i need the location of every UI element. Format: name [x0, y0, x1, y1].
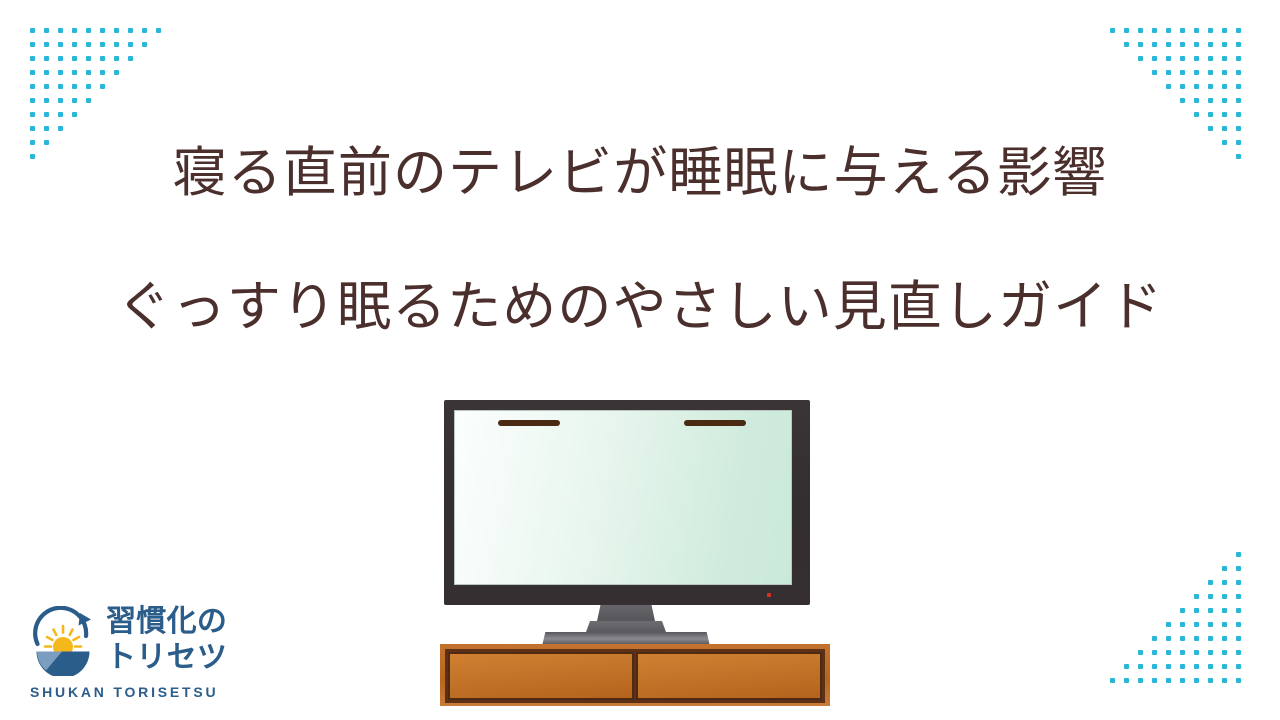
decorative-dot	[1152, 636, 1157, 641]
decorative-dot	[30, 42, 35, 47]
decorative-dot-spacer	[1180, 566, 1185, 571]
decorative-dot-spacer	[1110, 70, 1115, 75]
decorative-dot-row	[1110, 112, 1250, 126]
decorative-dot	[86, 56, 91, 61]
decorative-dot	[44, 126, 49, 131]
decorative-dot	[1152, 678, 1157, 683]
decorative-dot-spacer	[1166, 594, 1171, 599]
decorative-dot-spacer	[1124, 594, 1129, 599]
decorative-dot-spacer	[1124, 126, 1129, 131]
decorative-dot	[44, 70, 49, 75]
decorative-dot-spacer	[114, 126, 119, 131]
decorative-dot-spacer	[1124, 650, 1129, 655]
decorative-dot	[1194, 112, 1199, 117]
decorative-dot-spacer	[1222, 552, 1227, 557]
decorative-dot-spacer	[1124, 84, 1129, 89]
decorative-dot-spacer	[1110, 650, 1115, 655]
decorative-dot-spacer	[1166, 126, 1171, 131]
decorative-dot-spacer	[142, 126, 147, 131]
decorative-dot	[114, 42, 119, 47]
decorative-dot	[1180, 678, 1185, 683]
decorative-dot-spacer	[1194, 566, 1199, 571]
decorative-dot	[1222, 112, 1227, 117]
decorative-dot	[114, 70, 119, 75]
decorative-dot	[72, 98, 77, 103]
page-subtitle-line-2: ぐっすり眠るためのやさしい見直しガイド	[0, 275, 1280, 339]
decorative-dot	[58, 28, 63, 33]
decorative-dot-spacer	[1138, 608, 1143, 613]
decorative-dot	[1194, 70, 1199, 75]
decorative-dot-spacer	[1124, 70, 1129, 75]
decorative-dot-spacer	[1110, 608, 1115, 613]
decorative-dot	[114, 56, 119, 61]
decorative-dot	[30, 70, 35, 75]
decorative-dot	[86, 28, 91, 33]
decorative-dot	[1194, 678, 1199, 683]
decorative-dot	[100, 42, 105, 47]
decorative-dot-spacer	[128, 84, 133, 89]
decorative-dot-spacer	[100, 98, 105, 103]
decorative-dot-row	[30, 28, 170, 42]
decorative-dot	[1222, 98, 1227, 103]
decorative-dot	[1222, 28, 1227, 33]
decorative-dot	[86, 84, 91, 89]
decorative-dot-spacer	[1110, 580, 1115, 585]
decorative-dot	[1236, 28, 1241, 33]
decorative-dot-row	[1110, 84, 1250, 98]
decorative-dot-spacer	[1124, 56, 1129, 61]
decorative-dot-spacer	[1110, 42, 1115, 47]
decorative-dot-spacer	[1152, 84, 1157, 89]
decorative-dot-spacer	[100, 126, 105, 131]
decorative-dot-spacer	[156, 112, 161, 117]
decorative-dot	[1236, 552, 1241, 557]
decorative-dot	[1194, 664, 1199, 669]
cabinet-drawer-right	[636, 652, 822, 700]
decorative-dot	[1222, 580, 1227, 585]
decorative-dot	[1208, 678, 1213, 683]
decorative-dot-row	[1110, 636, 1250, 650]
decorative-dot-spacer	[1110, 84, 1115, 89]
decorative-dot-spacer	[1124, 98, 1129, 103]
decorative-dot-spacer	[1180, 112, 1185, 117]
decorative-dot	[1208, 42, 1213, 47]
decorative-dot	[1138, 42, 1143, 47]
decorative-dot	[44, 112, 49, 117]
decorative-dot	[100, 56, 105, 61]
decorative-dot-spacer	[1138, 552, 1143, 557]
decorative-dot-spacer	[142, 98, 147, 103]
decorative-dot	[1194, 636, 1199, 641]
decorative-dot-row	[30, 84, 170, 98]
decorative-dot-spacer	[1152, 608, 1157, 613]
decorative-dot	[72, 84, 77, 89]
decorative-dot	[128, 28, 133, 33]
decorative-dot-spacer	[1138, 566, 1143, 571]
decorative-dot-spacer	[72, 126, 77, 131]
cabinet-drawer-left	[448, 652, 634, 700]
decorative-dot-spacer	[1166, 566, 1171, 571]
decorative-dot	[1236, 126, 1241, 131]
decorative-dot	[1138, 650, 1143, 655]
decorative-dot	[1208, 594, 1213, 599]
decorative-dot-spacer	[1124, 622, 1129, 627]
decorative-dot-spacer	[1152, 112, 1157, 117]
decorative-dot-row	[1110, 552, 1250, 566]
decorative-dot	[1180, 84, 1185, 89]
decorative-dot-spacer	[1194, 580, 1199, 585]
decorative-dot-spacer	[128, 112, 133, 117]
decorative-dot-spacer	[1166, 552, 1171, 557]
decorative-dot	[1124, 664, 1129, 669]
decorative-dot	[1180, 70, 1185, 75]
decorative-dot-row	[1110, 580, 1250, 594]
decorative-dot-row	[30, 98, 170, 112]
decorative-dot-spacer	[1138, 636, 1143, 641]
decorative-dot	[1208, 608, 1213, 613]
decorative-dot	[1194, 42, 1199, 47]
decorative-dot	[1166, 84, 1171, 89]
decorative-dot-spacer	[1152, 98, 1157, 103]
poster-canvas: 寝る直前のテレビが睡眠に与える影響 ぐっすり眠るためのやさしい見直しガイド	[0, 0, 1280, 720]
television-illustration	[440, 400, 830, 700]
decorative-dot	[1236, 84, 1241, 89]
decorative-dot	[128, 42, 133, 47]
decorative-dot-spacer	[114, 84, 119, 89]
decorative-dot	[30, 28, 35, 33]
decorative-dot-spacer	[1138, 126, 1143, 131]
decorative-dot	[100, 28, 105, 33]
decorative-dot	[1180, 608, 1185, 613]
decorative-dot	[1194, 594, 1199, 599]
decorative-dot	[1236, 580, 1241, 585]
decorative-dot	[58, 56, 63, 61]
decorative-dot-row	[1110, 622, 1250, 636]
decorative-dot	[58, 126, 63, 131]
decorative-dot-row	[1110, 42, 1250, 56]
decorative-dot	[86, 70, 91, 75]
decorative-dot	[1236, 56, 1241, 61]
decorative-dot	[58, 112, 63, 117]
decorative-dot	[1110, 678, 1115, 683]
decorative-dot	[1222, 594, 1227, 599]
decorative-dot	[1208, 126, 1213, 131]
decorative-dot	[44, 28, 49, 33]
decorative-dot	[1236, 636, 1241, 641]
decorative-dot	[1222, 608, 1227, 613]
decorative-dot	[1208, 56, 1213, 61]
decorative-dot	[1152, 28, 1157, 33]
decorative-dot	[1208, 28, 1213, 33]
decorative-dot	[1166, 622, 1171, 627]
decorative-dot-spacer	[1124, 566, 1129, 571]
decorative-dot-spacer	[1166, 608, 1171, 613]
decorative-dot	[30, 56, 35, 61]
decorative-dot-spacer	[86, 112, 91, 117]
decorative-dot	[1124, 28, 1129, 33]
decorative-dot-row	[1110, 70, 1250, 84]
decorative-dot	[1194, 84, 1199, 89]
decorative-dot-row	[1110, 56, 1250, 70]
decorative-dot	[100, 70, 105, 75]
brand-logo: 習慣化の トリセツ SHUKAN TORISETSU	[28, 604, 248, 704]
decorative-dot-spacer	[156, 84, 161, 89]
decorative-dot-row	[1110, 98, 1250, 112]
decorative-dot-spacer	[1152, 580, 1157, 585]
decorative-dot-row	[30, 56, 170, 70]
decorative-dot	[1138, 678, 1143, 683]
decorative-dot-spacer	[1166, 98, 1171, 103]
decorative-dot-spacer	[1124, 552, 1129, 557]
decorative-dots-bottom-right	[1110, 552, 1250, 692]
decorative-dot	[156, 28, 161, 33]
decorative-dot	[128, 56, 133, 61]
decorative-dot	[1236, 566, 1241, 571]
decorative-dot	[1236, 650, 1241, 655]
logo-wordmark-line2: トリセツ	[106, 641, 227, 674]
decorative-dot-spacer	[1152, 552, 1157, 557]
decorative-dot-spacer	[1152, 622, 1157, 627]
decorative-dot	[1236, 622, 1241, 627]
decorative-dot-spacer	[142, 70, 147, 75]
decorative-dot	[1152, 664, 1157, 669]
logo-tagline: SHUKAN TORISETSU	[30, 684, 218, 700]
decorative-dot	[1208, 664, 1213, 669]
decorative-dot	[30, 126, 35, 131]
decorative-dot	[1110, 28, 1115, 33]
decorative-dot	[1222, 664, 1227, 669]
decorative-dot	[142, 42, 147, 47]
decorative-dot	[1208, 70, 1213, 75]
decorative-dot-spacer	[1110, 112, 1115, 117]
decorative-dot	[1208, 580, 1213, 585]
decorative-dot	[1152, 650, 1157, 655]
decorative-dot	[1166, 28, 1171, 33]
decorative-dot-spacer	[1110, 98, 1115, 103]
decorative-dot	[30, 84, 35, 89]
cabinet-drawer-handle-left	[498, 420, 560, 426]
decorative-dot-spacer	[1152, 566, 1157, 571]
decorative-dot-row	[30, 42, 170, 56]
decorative-dot	[72, 56, 77, 61]
decorative-dot	[44, 98, 49, 103]
decorative-dot-spacer	[1110, 126, 1115, 131]
decorative-dot	[1194, 622, 1199, 627]
decorative-dot	[1208, 112, 1213, 117]
decorative-dot-row	[30, 126, 170, 140]
decorative-dot	[1152, 42, 1157, 47]
decorative-dot-row	[1110, 608, 1250, 622]
decorative-dot	[44, 84, 49, 89]
decorative-dot	[1180, 42, 1185, 47]
decorative-dot	[72, 28, 77, 33]
decorative-dot-spacer	[1138, 98, 1143, 103]
decorative-dot-spacer	[1124, 580, 1129, 585]
decorative-dot	[1236, 98, 1241, 103]
decorative-dot-spacer	[1124, 608, 1129, 613]
decorative-dot	[1236, 112, 1241, 117]
cabinet-drawer-handle-right	[684, 420, 746, 426]
decorative-dot	[1222, 126, 1227, 131]
decorative-dot	[1166, 664, 1171, 669]
decorative-dot	[1180, 636, 1185, 641]
decorative-dot	[1236, 664, 1241, 669]
decorative-dot-spacer	[1180, 594, 1185, 599]
decorative-dot	[58, 42, 63, 47]
decorative-dot-spacer	[156, 126, 161, 131]
decorative-dot	[1208, 98, 1213, 103]
decorative-dot	[1180, 28, 1185, 33]
decorative-dot	[1166, 678, 1171, 683]
decorative-dot-row	[30, 70, 170, 84]
decorative-dot	[1180, 56, 1185, 61]
decorative-dot	[1236, 594, 1241, 599]
tv-power-led-icon	[767, 593, 771, 597]
decorative-dot	[1222, 84, 1227, 89]
decorative-dot-spacer	[128, 98, 133, 103]
decorative-dot-spacer	[1124, 112, 1129, 117]
decorative-dot-row	[1110, 650, 1250, 664]
decorative-dot	[1222, 42, 1227, 47]
decorative-dot	[1208, 622, 1213, 627]
decorative-dot	[1152, 70, 1157, 75]
decorative-dot-spacer	[1124, 636, 1129, 641]
decorative-dot-spacer	[1180, 580, 1185, 585]
decorative-dot	[114, 28, 119, 33]
decorative-dot-spacer	[156, 70, 161, 75]
sunrise-refresh-circle-icon	[28, 606, 98, 676]
decorative-dot-spacer	[1110, 664, 1115, 669]
decorative-dot	[1166, 636, 1171, 641]
decorative-dot	[1236, 678, 1241, 683]
decorative-dot	[1236, 608, 1241, 613]
decorative-dot	[1208, 84, 1213, 89]
decorative-dot	[1138, 56, 1143, 61]
decorative-dot-spacer	[1138, 70, 1143, 75]
decorative-dot	[30, 112, 35, 117]
decorative-dot	[1222, 566, 1227, 571]
decorative-dot-spacer	[100, 112, 105, 117]
decorative-dot	[1152, 56, 1157, 61]
decorative-dot-spacer	[142, 56, 147, 61]
decorative-dot	[1180, 622, 1185, 627]
decorative-dot-spacer	[1180, 552, 1185, 557]
decorative-dot-spacer	[1208, 552, 1213, 557]
decorative-dot-spacer	[1180, 126, 1185, 131]
decorative-dot	[142, 28, 147, 33]
decorative-dot	[1166, 650, 1171, 655]
decorative-dot-spacer	[1138, 594, 1143, 599]
decorative-dot	[1166, 70, 1171, 75]
logo-wordmark: 習慣化の トリセツ	[106, 604, 227, 676]
decorative-dot-row	[1110, 678, 1250, 692]
decorative-dot-spacer	[142, 84, 147, 89]
decorative-dot-row	[1110, 594, 1250, 608]
decorative-dot	[1194, 650, 1199, 655]
decorative-dot-spacer	[156, 42, 161, 47]
decorative-dot-spacer	[1138, 580, 1143, 585]
decorative-dot-spacer	[128, 126, 133, 131]
decorative-dot-spacer	[1138, 84, 1143, 89]
decorative-dot-spacer	[1138, 622, 1143, 627]
decorative-dot-spacer	[114, 112, 119, 117]
decorative-dot-spacer	[1138, 112, 1143, 117]
decorative-dot-spacer	[1194, 126, 1199, 131]
decorative-dot	[30, 98, 35, 103]
page-title-line-1: 寝る直前のテレビが睡眠に与える影響	[0, 141, 1280, 205]
decorative-dot-spacer	[1110, 594, 1115, 599]
decorative-dot	[72, 112, 77, 117]
logo-wordmark-line1: 習慣化の	[106, 605, 227, 638]
decorative-dot	[1180, 98, 1185, 103]
decorative-dot	[58, 70, 63, 75]
decorative-dot-row	[30, 112, 170, 126]
decorative-dot	[1222, 56, 1227, 61]
decorative-dot	[100, 84, 105, 89]
decorative-dot	[1222, 678, 1227, 683]
decorative-dot	[1166, 42, 1171, 47]
decorative-dot	[1194, 56, 1199, 61]
tv-stand-riser	[586, 621, 666, 632]
decorative-dot-spacer	[1166, 112, 1171, 117]
decorative-dot	[1124, 678, 1129, 683]
decorative-dot	[1236, 42, 1241, 47]
decorative-dot	[1180, 650, 1185, 655]
decorative-dot-row	[1110, 28, 1250, 42]
decorative-dot-row	[1110, 664, 1250, 678]
decorative-dot-spacer	[1110, 636, 1115, 641]
tv-stand-neck	[597, 605, 655, 621]
decorative-dot	[1124, 42, 1129, 47]
tv-screen	[454, 410, 792, 585]
decorative-dot	[1236, 70, 1241, 75]
decorative-dot	[72, 70, 77, 75]
decorative-dot-spacer	[1208, 566, 1213, 571]
decorative-dot-spacer	[114, 98, 119, 103]
decorative-dot	[44, 56, 49, 61]
decorative-dot	[1222, 70, 1227, 75]
decorative-dot-spacer	[156, 98, 161, 103]
decorative-dot	[1138, 664, 1143, 669]
decorative-dot-row	[1110, 126, 1250, 140]
decorative-dot	[86, 42, 91, 47]
decorative-dot	[1138, 28, 1143, 33]
decorative-dot	[1194, 28, 1199, 33]
decorative-dot	[1208, 636, 1213, 641]
decorative-dot	[1222, 636, 1227, 641]
decorative-dot-spacer	[142, 112, 147, 117]
decorative-dot	[58, 84, 63, 89]
decorative-dot	[86, 98, 91, 103]
decorative-dot-spacer	[1152, 126, 1157, 131]
decorative-dot	[1222, 650, 1227, 655]
decorative-dot-row	[1110, 566, 1250, 580]
decorative-dot	[1208, 650, 1213, 655]
decorative-dot-spacer	[156, 56, 161, 61]
decorative-dot	[1194, 98, 1199, 103]
decorative-dot	[58, 98, 63, 103]
decorative-dot	[1166, 56, 1171, 61]
decorative-dot-spacer	[1110, 552, 1115, 557]
decorative-dot	[1222, 622, 1227, 627]
decorative-dot-spacer	[86, 126, 91, 131]
decorative-dot-spacer	[128, 70, 133, 75]
decorative-dot	[72, 42, 77, 47]
decorative-dot	[1180, 664, 1185, 669]
decorative-dot-spacer	[1166, 580, 1171, 585]
decorative-dot-spacer	[1152, 594, 1157, 599]
decorative-dot-spacer	[1110, 566, 1115, 571]
